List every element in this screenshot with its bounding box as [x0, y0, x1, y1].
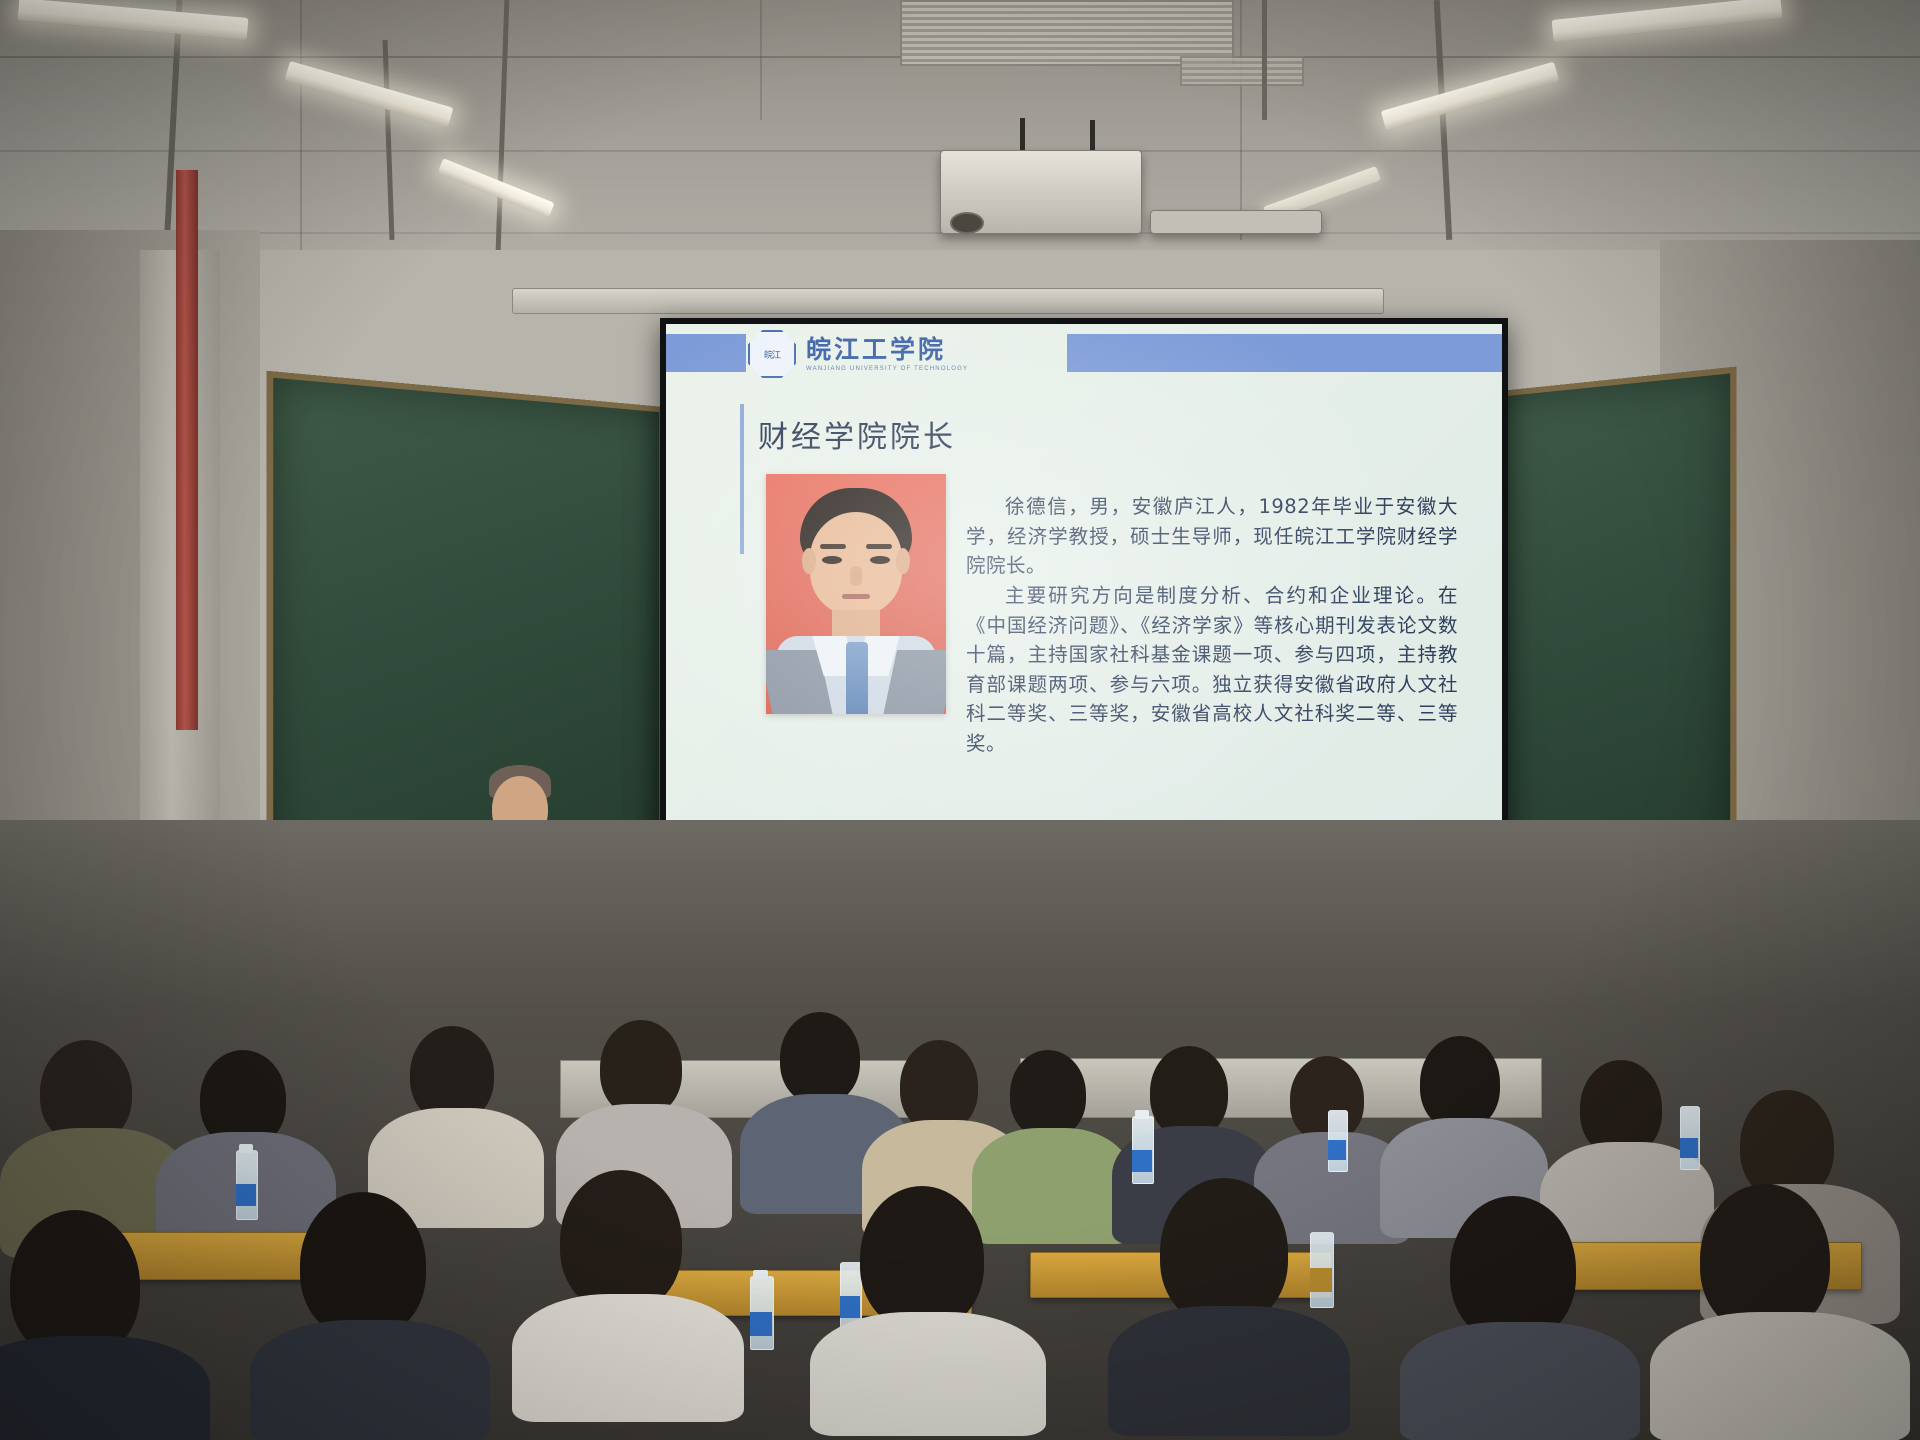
audience-shoulders — [810, 1312, 1046, 1436]
university-seal-icon: 皖江 — [748, 330, 796, 378]
portrait-brow — [866, 544, 892, 549]
slide-title: 财经学院院长 — [758, 412, 956, 456]
audience-head — [1420, 1036, 1500, 1130]
logo-name-en: WANJIANG UNIVERSITY OF TECHNOLOGY — [806, 366, 968, 372]
bottle-label — [1328, 1140, 1346, 1160]
lecture-hall-photo: 消防设备处 皖江 皖江工学院 WANJIANG UNIVERSITY OF TE… — [0, 0, 1920, 1440]
audience-shoulders — [0, 1336, 210, 1440]
slide-paragraph-1: 徐德信，男，安徽庐江人，1982年毕业于安徽大学，经济学教授，硕士生导师，现任皖… — [966, 492, 1458, 581]
title-accent-bar — [740, 404, 744, 554]
bottle-label — [236, 1184, 256, 1206]
logo-text-block: 皖江工学院 WANJIANG UNIVERSITY OF TECHNOLOGY — [806, 337, 968, 372]
audience-head — [780, 1012, 860, 1104]
bottle-label — [1132, 1150, 1152, 1172]
portrait-eye — [822, 556, 842, 564]
logo-name-cn: 皖江工学院 — [806, 337, 968, 362]
bottle-label — [1680, 1138, 1698, 1158]
audience-shoulders — [972, 1128, 1132, 1244]
portrait-face — [810, 512, 902, 616]
ceiling-seam-v — [1240, 0, 1242, 240]
audience-shoulders — [1400, 1322, 1640, 1440]
slide-body-text: 徐德信，男，安徽庐江人，1982年毕业于安徽大学，经济学教授，硕士生导师，现任皖… — [966, 492, 1458, 759]
portrait-ear — [896, 548, 910, 574]
portrait-necktie — [846, 642, 868, 714]
portrait-eye — [870, 556, 890, 564]
audience-shoulders — [1650, 1312, 1910, 1440]
audience-shoulders — [250, 1320, 490, 1440]
bottle-cap — [753, 1270, 768, 1279]
projector-mount — [1020, 118, 1025, 152]
slide-header-band: 皖江 皖江工学院 WANJIANG UNIVERSITY OF TECHNOLO… — [666, 324, 1502, 376]
audience-shoulders — [1108, 1306, 1350, 1436]
ceiling-vent — [1180, 56, 1304, 86]
audience-head — [860, 1186, 984, 1330]
projector-bracket — [1150, 210, 1322, 234]
audience-head — [560, 1170, 682, 1312]
ceiling-seam-v — [760, 0, 762, 120]
audience-head — [300, 1192, 426, 1338]
projector-lens — [950, 212, 984, 234]
audience-head — [1010, 1050, 1086, 1138]
university-logo: 皖江 皖江工学院 WANJIANG UNIVERSITY OF TECHNOLO… — [748, 330, 968, 378]
bottle-label — [1310, 1268, 1332, 1292]
ceiling-conduit — [1262, 0, 1267, 120]
header-accent-right — [1067, 334, 1502, 372]
screen-housing — [512, 288, 1384, 314]
bottle-cap — [239, 1144, 253, 1153]
projector-mount — [1090, 120, 1095, 152]
audience-head — [1150, 1046, 1228, 1138]
ceiling-seam-v — [300, 0, 302, 250]
audience-head — [900, 1040, 978, 1132]
portrait-ear — [802, 548, 816, 574]
bottle-cap — [1135, 1110, 1149, 1119]
header-accent-left — [666, 334, 746, 372]
audience-shoulders — [512, 1294, 744, 1422]
audience-head — [1450, 1196, 1576, 1342]
bottle-label — [840, 1296, 860, 1318]
audience-head — [1290, 1056, 1364, 1142]
red-fire-pipe — [176, 170, 198, 730]
portrait-nose — [850, 566, 862, 586]
bottle-label — [750, 1312, 772, 1336]
portrait-photo — [766, 474, 946, 714]
audience-head — [1160, 1178, 1288, 1326]
slide-paragraph-2: 主要研究方向是制度分析、合约和企业理论。在《中国经济问题》、《经济学家》等核心期… — [966, 581, 1458, 759]
portrait-mouth — [842, 594, 870, 599]
portrait-brow — [820, 544, 846, 549]
audience-head — [600, 1020, 682, 1116]
